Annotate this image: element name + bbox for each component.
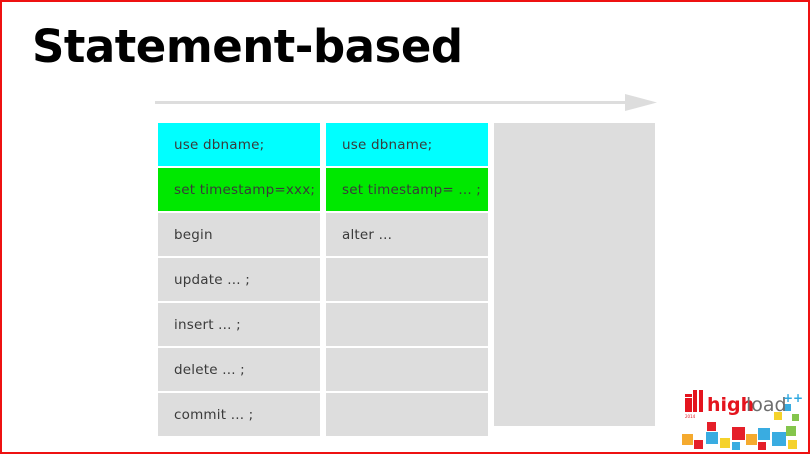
table-row — [326, 348, 488, 391]
statement-table: use dbname; set timestamp=xxx; begin upd… — [158, 123, 655, 426]
table-row — [326, 393, 488, 436]
slide: Statement-based use dbname; set timestam… — [0, 0, 810, 454]
time-arrow-icon — [155, 91, 657, 115]
table-row: commit ... ; — [158, 393, 320, 436]
highload-logo-icon: 2014 high load ++ — [680, 382, 804, 450]
statement-column-2: use dbname; set timestamp= ... ; alter .… — [326, 123, 488, 438]
table-row: use dbname; — [326, 123, 488, 166]
table-row: insert ... ; — [158, 303, 320, 346]
logo-text-load: load — [746, 394, 787, 416]
logo-year: 2014 — [685, 414, 696, 419]
statement-column-1: use dbname; set timestamp=xxx; begin upd… — [158, 123, 320, 438]
highload-logo: 2014 high load ++ — [680, 382, 804, 450]
table-row: begin — [158, 213, 320, 256]
table-row — [326, 258, 488, 301]
table-row: update ... ; — [158, 258, 320, 301]
table-row: delete ... ; — [158, 348, 320, 391]
statement-column-3-blank — [494, 123, 655, 426]
table-row: set timestamp=xxx; — [158, 168, 320, 211]
table-row: alter ... — [326, 213, 488, 256]
page-title: Statement-based — [32, 22, 463, 72]
table-row — [326, 303, 488, 346]
table-row: use dbname; — [158, 123, 320, 166]
time-arrow — [155, 91, 657, 115]
table-row: set timestamp= ... ; — [326, 168, 488, 211]
logo-plus: ++ — [783, 391, 803, 405]
